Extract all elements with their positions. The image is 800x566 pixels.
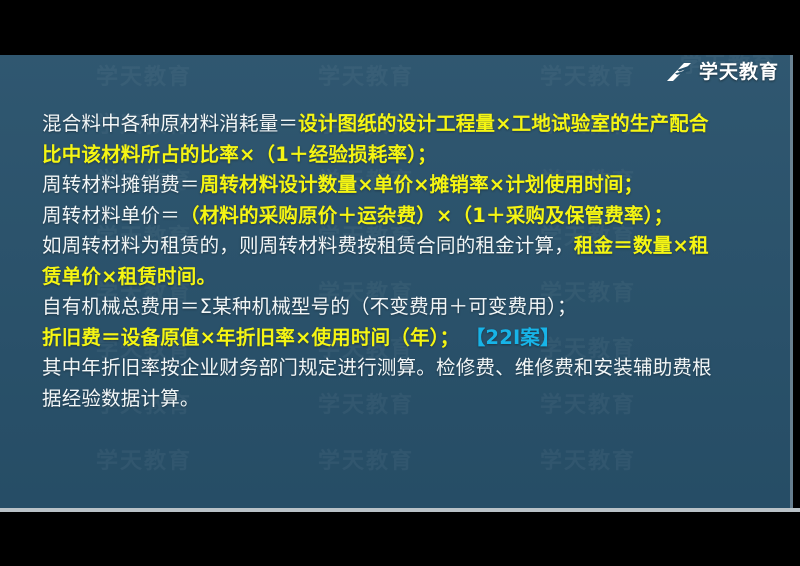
text-segment: 如周转材料为租赁的，则周转材料费按租赁合同的租金计算， (42, 234, 574, 257)
text-segment-highlight: 周转材料设计数量×单价×摊销率×计划使用时间； (200, 173, 644, 196)
watermark-text: 学天教育 (318, 59, 414, 91)
text-segment-highlight: 比中该材料所占的比率×（1＋经验损耗率）； (42, 143, 437, 166)
text-line-4: 周转材料单价＝（材料的采购原价＋运杂费）×（1＋采购及保管费率）； (42, 201, 754, 232)
slide-viewer: 学天教育 学天教育 学天教育 学天教育 学天教育 学天教育 学天教育 学天教育 … (0, 0, 800, 566)
letterbox-top (0, 0, 800, 55)
letterbox-bottom (0, 512, 800, 566)
text-segment: 据经验数据计算。 (42, 387, 200, 410)
text-line-1: 混合料中各种原材料消耗量＝设计图纸的设计工程量×工地试验室的生产配合 (42, 109, 754, 140)
watermark-text: 学天教育 (96, 59, 192, 91)
brand-name: 学天教育 (699, 63, 779, 82)
exam-reference-annotation: 【22Ⅰ案】 (466, 326, 560, 349)
text-line-8: 折旧费＝设备原值×年折旧率×使用时间（年）； 【22Ⅰ案】 (42, 323, 754, 354)
watermark-text: 学天教育 (540, 443, 636, 475)
text-line-5: 如周转材料为租赁的，则周转材料费按租赁合同的租金计算，租金＝数量×租 (42, 231, 754, 262)
brand-logo: 学天教育 (664, 62, 779, 82)
text-segment: 自有机械总费用＝Σ某种机械型号的（不变费用＋可变费用）； (42, 295, 577, 318)
text-line-2: 比中该材料所占的比率×（1＋经验损耗率）； (42, 140, 754, 171)
slide-right-edge (790, 55, 793, 508)
slide-canvas: 学天教育 学天教育 学天教育 学天教育 学天教育 学天教育 学天教育 学天教育 … (0, 55, 793, 508)
watermark-text: 学天教育 (318, 443, 414, 475)
text-segment-highlight: 设计图纸的设计工程量×工地试验室的生产配合 (298, 112, 709, 135)
watermark-text: 学天教育 (540, 59, 636, 91)
text-segment: 周转材料单价＝ (42, 204, 180, 227)
text-segment-highlight: 折旧费＝设备原值×年折旧率×使用时间（年）； (42, 326, 459, 349)
text-segment-highlight: （材料的采购原价＋运杂费）×（1＋采购及保管费率）； (180, 204, 673, 227)
swoosh-icon (664, 62, 692, 82)
text-segment: 其中年折旧率按企业财务部门规定进行测算。检修费、维修费和安装辅助费根 (42, 356, 712, 379)
text-segment-highlight: 租金＝数量×租 (574, 234, 709, 257)
text-segment-highlight: 赁单价×租赁时间。 (42, 265, 216, 288)
text-segment: 混合料中各种原材料消耗量＝ (42, 112, 298, 135)
watermark-text: 学天教育 (96, 443, 192, 475)
slide-body-text: 混合料中各种原材料消耗量＝设计图纸的设计工程量×工地试验室的生产配合 比中该材料… (42, 109, 754, 414)
text-line-10: 据经验数据计算。 (42, 384, 754, 415)
text-line-9: 其中年折旧率按企业财务部门规定进行测算。检修费、维修费和安装辅助费根 (42, 353, 754, 384)
text-line-6: 赁单价×租赁时间。 (42, 262, 754, 293)
text-line-3: 周转材料摊销费＝周转材料设计数量×单价×摊销率×计划使用时间； (42, 170, 754, 201)
text-segment: 周转材料摊销费＝ (42, 173, 200, 196)
text-line-7: 自有机械总费用＝Σ某种机械型号的（不变费用＋可变费用）； (42, 292, 754, 323)
